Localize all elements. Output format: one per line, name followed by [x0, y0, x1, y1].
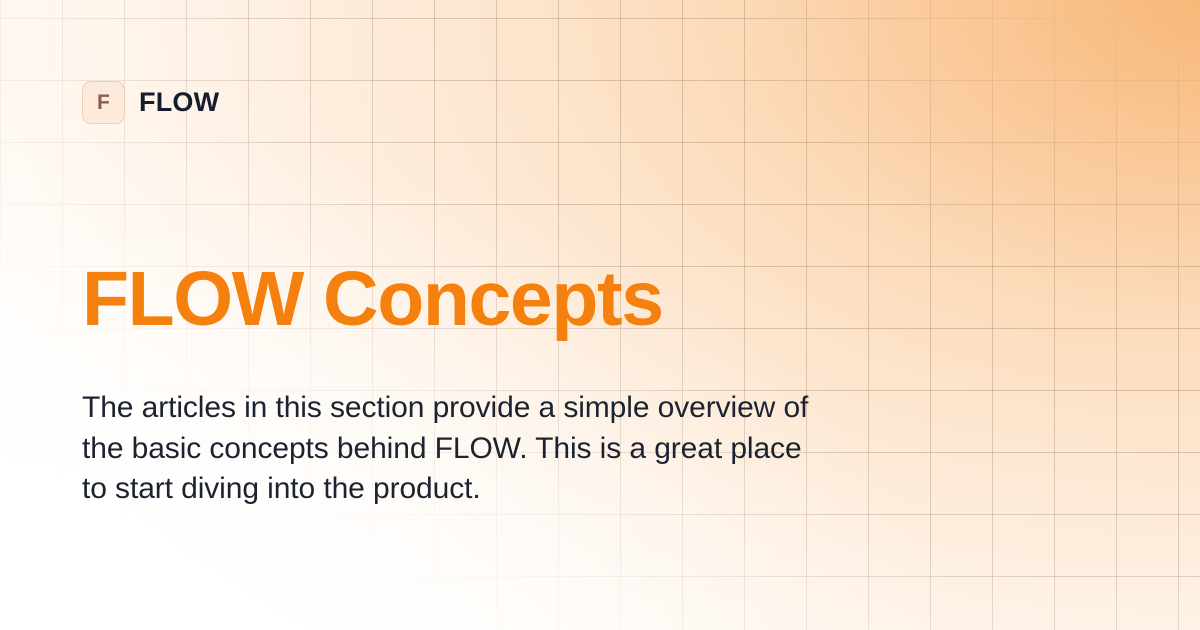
brand-lockup[interactable]: F FLOW	[82, 81, 219, 124]
hero-banner: F FLOW FLOW Concepts The articles in thi…	[0, 0, 1200, 630]
brand-logo-icon: F	[82, 81, 125, 124]
brand-wordmark: FLOW	[139, 89, 219, 116]
page-title: FLOW Concepts	[82, 258, 663, 341]
page-description: The articles in this section provide a s…	[82, 388, 827, 510]
hero-content: F FLOW FLOW Concepts The articles in thi…	[0, 0, 1200, 630]
